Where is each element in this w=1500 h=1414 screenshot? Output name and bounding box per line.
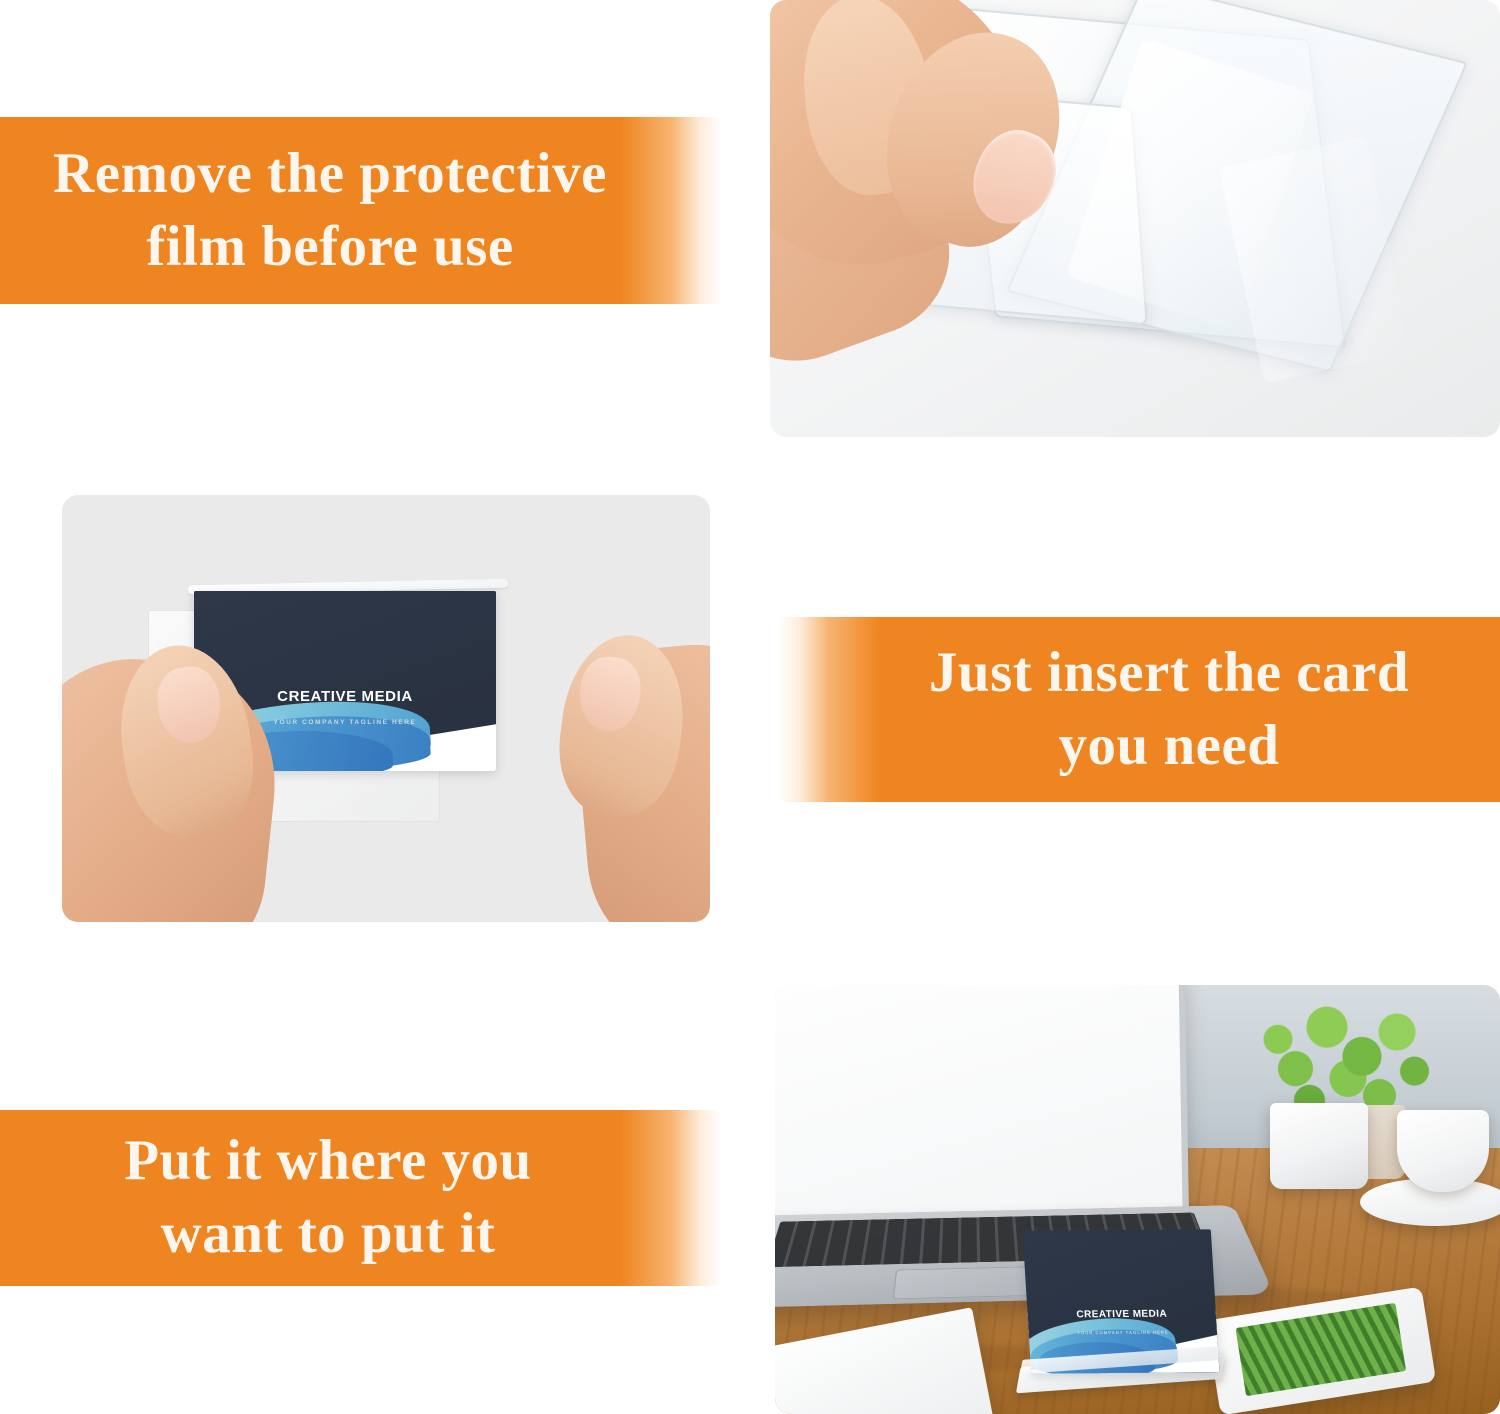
caption-banner-remove-film: Remove the protective film before use [0,117,722,304]
caption-line-2: film before use [146,215,513,278]
caption-banner-put-it: Put it where you want to put it [0,1110,722,1286]
photo-insert-card-into-holder: CREATIVE MEDIA YOUR COMPANY TAGLINE HERE [62,495,710,922]
card-title: CREATIVE MEDIA [1027,1308,1216,1321]
caption-text-insert-card: Just insert the card you need [838,637,1500,783]
smartphone-screen [1236,1302,1406,1395]
plant-pot [1270,1103,1368,1189]
caption-text-remove-film: Remove the protective film before use [0,138,660,284]
photo-peel-protective-film [770,0,1500,437]
coffee-cup [1397,1110,1489,1192]
caption-line-2: you need [1059,714,1280,777]
caption-banner-insert-card: Just insert the card you need [778,617,1500,802]
caption-line-2: want to put it [161,1202,496,1265]
caption-line-1: Put it where you [124,1129,532,1192]
caption-text-put-it: Put it where you want to put it [0,1125,656,1271]
plant-leaves [1257,993,1432,1115]
caption-line-1: Remove the protective [53,142,607,205]
photo-card-holder-on-desk: CREATIVE MEDIA YOUR COMPANY TAGLINE HERE [775,985,1500,1414]
product-infographic: Remove the protective film before use CR… [0,0,1500,1414]
caption-line-1: Just insert the card [929,641,1409,704]
